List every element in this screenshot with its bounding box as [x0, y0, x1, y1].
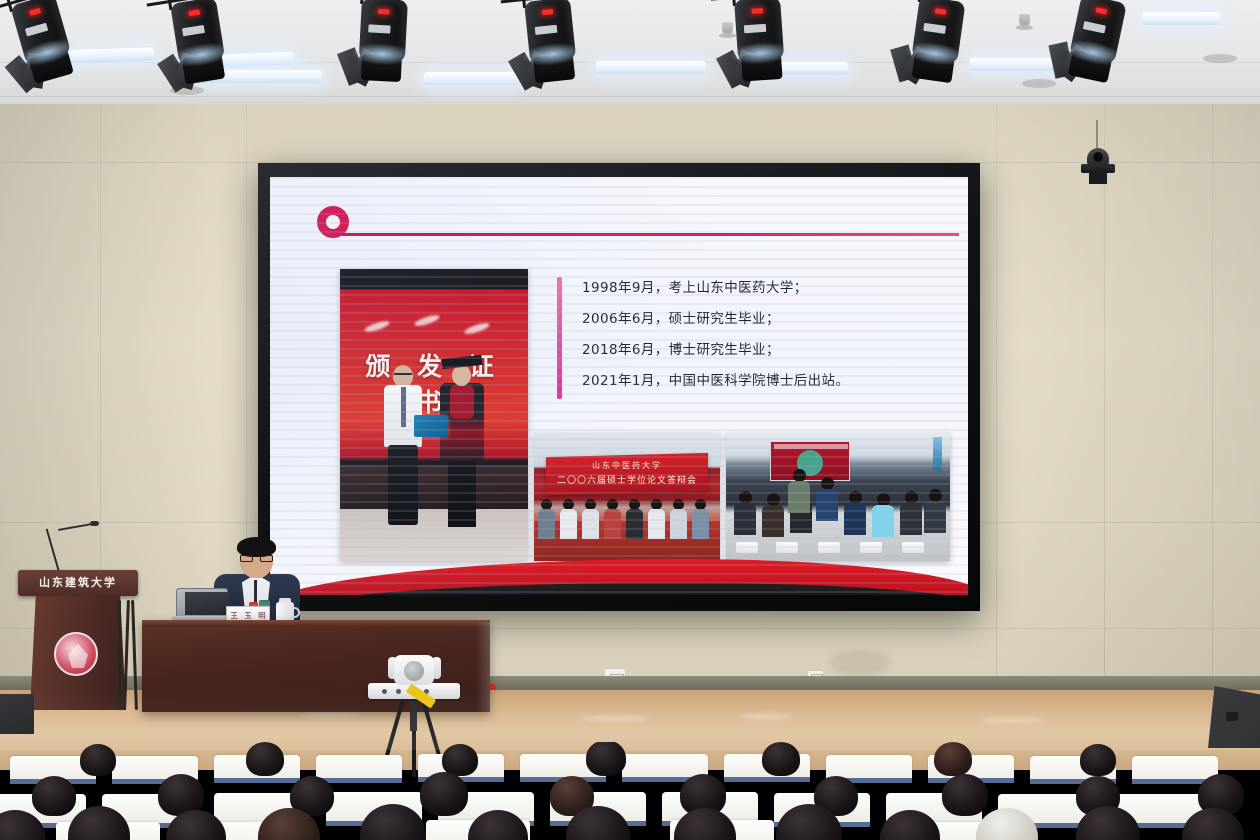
audience-head: [934, 742, 972, 776]
ceiling-vent: [1203, 54, 1237, 63]
auditorium-photo: 颁 发 证 书 山东中医药大学 二〇〇六届硕士学位论文答辩会: [0, 0, 1260, 840]
sprinkler-head: [722, 22, 733, 35]
ceiling-strip-light: [1142, 12, 1220, 25]
laptop: [172, 588, 228, 622]
ceiling: [0, 0, 1260, 112]
projection-screen: 颁 发 证 书 山东中医药大学 二〇〇六届硕士学位论文答辩会: [258, 163, 980, 611]
presentation-slide: 颁 发 证 书 山东中医药大学 二〇〇六届硕士学位论文答辩会: [270, 177, 968, 595]
audience: [0, 742, 1260, 840]
audience-head: [762, 742, 800, 776]
audience-head: [80, 744, 116, 776]
university-crest-icon: [54, 632, 98, 676]
glasses-icon: [240, 555, 273, 562]
podium-university-name: 山东建筑大学: [26, 574, 130, 590]
audience-head: [442, 744, 478, 776]
ceiling-strip-light: [424, 72, 520, 85]
ceiling-vent: [1022, 79, 1056, 88]
ceiling-strip-light: [596, 61, 706, 74]
audience-head: [32, 776, 76, 816]
audience-head: [586, 742, 626, 776]
audience-head: [246, 742, 284, 776]
audience-head: [1080, 744, 1116, 776]
audience-head: [942, 774, 988, 816]
sprinkler-head: [1019, 14, 1030, 27]
audience-head: [420, 772, 468, 816]
ptz-camera: [1081, 148, 1115, 184]
